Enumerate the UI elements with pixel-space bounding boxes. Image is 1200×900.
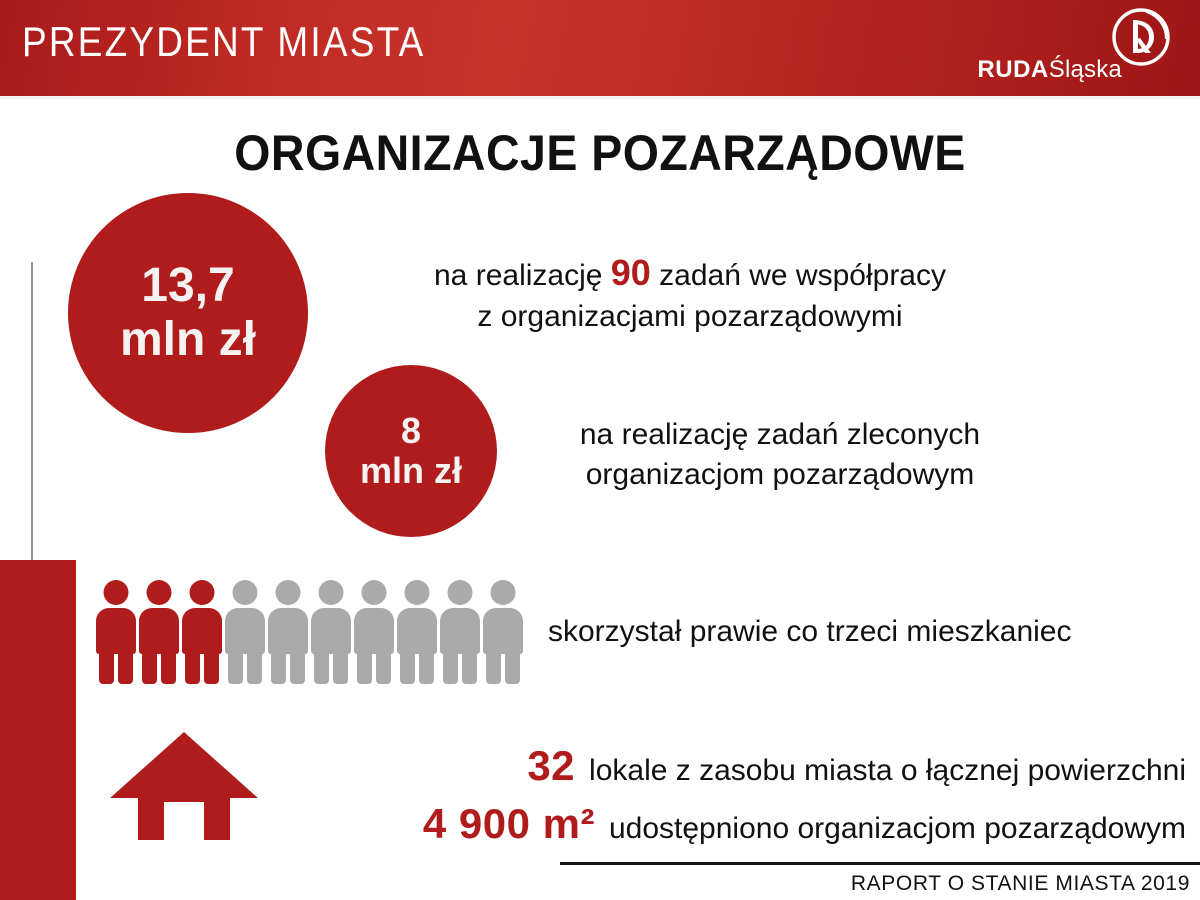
header-title: PREZYDENT MIASTA	[22, 18, 425, 66]
person-body-icon	[139, 608, 179, 654]
circle-unit: mln zł	[360, 452, 462, 490]
stat-circle-commissioned-tasks: 8 mln zł	[325, 365, 497, 537]
page-title: ORGANIZACJE POZARZĄDOWE	[42, 124, 1158, 182]
person-head-icon	[233, 580, 258, 605]
person-head-icon	[190, 580, 215, 605]
person-figure-muted	[268, 580, 308, 684]
stat-text-commissioned-tasks: na realizację zadań zleconych organizacj…	[520, 415, 1040, 495]
person-body-icon	[311, 608, 351, 654]
text-line2: z organizacjami pozarządowymi	[477, 300, 902, 333]
premises-area-line: 4 900 m² udostępniono organizacjom pozar…	[256, 800, 1186, 848]
highlight-task-count: 90	[611, 252, 651, 293]
person-leg-right-icon	[505, 650, 520, 684]
house-icon	[108, 730, 260, 842]
left-red-block	[0, 560, 76, 900]
text-before: na realizację	[434, 259, 602, 292]
stat-circle-budget-total: 13,7 mln zł	[68, 193, 308, 433]
infographic-slide: PREZYDENT MIASTA RUDAŚląska ORGANIZACJE …	[0, 0, 1200, 900]
person-figure-muted	[225, 580, 265, 684]
person-body-icon	[182, 608, 222, 654]
person-figure-muted	[311, 580, 351, 684]
text-after: zadań we współpracy	[659, 259, 946, 292]
person-body-icon	[268, 608, 308, 654]
circle-value: 13,7	[141, 261, 234, 311]
person-leg-right-icon	[161, 650, 176, 684]
person-figure-muted	[440, 580, 480, 684]
person-leg-left-icon	[142, 650, 157, 684]
logo-brand-light: Śląska	[1049, 56, 1122, 83]
person-leg-left-icon	[228, 650, 243, 684]
header-bar: PREZYDENT MIASTA RUDAŚląska	[0, 0, 1200, 96]
logo-wordmark: RUDAŚląska	[977, 58, 1122, 82]
person-head-icon	[104, 580, 129, 605]
person-head-icon	[147, 580, 172, 605]
person-leg-right-icon	[333, 650, 348, 684]
stat-text-budget-total: na realizację 90 zadań we współpracy z o…	[360, 249, 1020, 337]
premises-count: 32	[527, 742, 575, 790]
person-leg-left-icon	[400, 650, 415, 684]
header-divider	[0, 96, 1200, 99]
stat-text-residents: skorzystał prawie co trzeci mieszkaniec	[548, 612, 1188, 652]
person-leg-right-icon	[419, 650, 434, 684]
person-body-icon	[397, 608, 437, 654]
person-leg-left-icon	[185, 650, 200, 684]
person-leg-left-icon	[271, 650, 286, 684]
person-leg-right-icon	[462, 650, 477, 684]
person-leg-left-icon	[357, 650, 372, 684]
person-leg-left-icon	[99, 650, 114, 684]
person-head-icon	[405, 580, 430, 605]
person-figure-muted	[354, 580, 394, 684]
person-head-icon	[319, 580, 344, 605]
circle-unit: mln zł	[120, 315, 256, 365]
person-leg-left-icon	[443, 650, 458, 684]
logo: RUDAŚląska	[970, 4, 1180, 96]
person-head-icon	[448, 580, 473, 605]
person-leg-right-icon	[376, 650, 391, 684]
premises-count-line: 32 lokale z zasobu miasta o łącznej powi…	[256, 742, 1186, 790]
person-figure-muted	[483, 580, 523, 684]
person-figure-highlighted	[96, 580, 136, 684]
person-body-icon	[440, 608, 480, 654]
person-leg-right-icon	[247, 650, 262, 684]
stat-text-premises: 32 lokale z zasobu miasta o łącznej powi…	[256, 742, 1186, 848]
person-head-icon	[362, 580, 387, 605]
premises-area-text: udostępniono organizacjom pozarządowym	[609, 812, 1186, 846]
left-vertical-rule	[31, 262, 33, 562]
text-line2: organizacjom pozarządowym	[586, 458, 975, 491]
person-leg-left-icon	[314, 650, 329, 684]
circle-value: 8	[401, 412, 421, 450]
text-line1: na realizację zadań zleconych	[580, 418, 980, 451]
person-figure-highlighted	[182, 580, 222, 684]
premises-area: 4 900 m²	[423, 800, 595, 848]
person-leg-right-icon	[118, 650, 133, 684]
premises-count-text: lokale z zasobu miasta o łącznej powierz…	[589, 754, 1186, 788]
person-body-icon	[96, 608, 136, 654]
person-leg-right-icon	[204, 650, 219, 684]
person-leg-right-icon	[290, 650, 305, 684]
people-pictogram	[96, 572, 524, 684]
person-head-icon	[491, 580, 516, 605]
person-body-icon	[225, 608, 265, 654]
footer-label: RAPORT O STANIE MIASTA 2019	[851, 872, 1190, 896]
logo-brand-bold: RUDA	[977, 56, 1048, 83]
person-leg-left-icon	[486, 650, 501, 684]
footer-divider	[560, 862, 1200, 865]
person-body-icon	[483, 608, 523, 654]
person-figure-muted	[397, 580, 437, 684]
person-head-icon	[276, 580, 301, 605]
person-body-icon	[354, 608, 394, 654]
person-figure-highlighted	[139, 580, 179, 684]
